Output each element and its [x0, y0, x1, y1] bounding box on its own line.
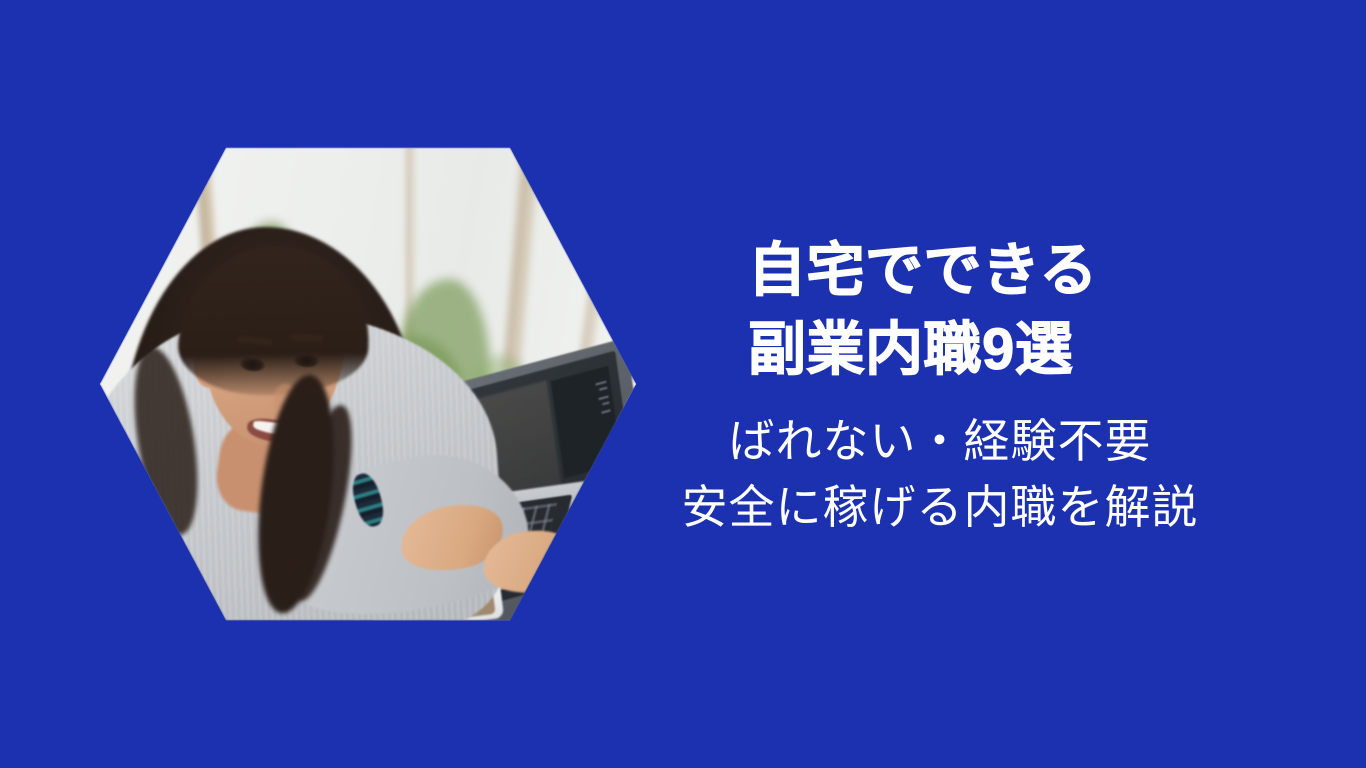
screen-text-line: [595, 380, 607, 385]
screen-text-line: [599, 386, 607, 390]
screen-text-line: [603, 402, 610, 406]
screen-text-line: [598, 396, 609, 401]
subhead-line-2: 安全に稼げる内職を解説: [640, 474, 1240, 541]
headline-line-2: 副業内職9選: [748, 311, 1240, 390]
page-subtitle: ばれない・経験不要 安全に稼げる内職を解説: [640, 408, 1240, 541]
page-title: 自宅でできる 副業内職9選: [640, 232, 1240, 390]
screen-text-line: [601, 410, 610, 414]
screen-side-panel: [551, 366, 622, 479]
headline-line-1: 自宅でできる: [748, 232, 1240, 311]
person-eyebrow: [290, 333, 324, 341]
text-block: 自宅でできる 副業内職9選 ばれない・経験不要 安全に稼げる内職を解説: [640, 232, 1240, 541]
hero-photo: [100, 146, 636, 622]
thumbnail-canvas: 自宅でできる 副業内職9選 ばれない・経験不要 安全に稼げる内職を解説: [0, 0, 1366, 768]
hero-photo-hexagon: [100, 146, 636, 622]
subhead-line-1: ばれない・経験不要: [640, 408, 1240, 475]
